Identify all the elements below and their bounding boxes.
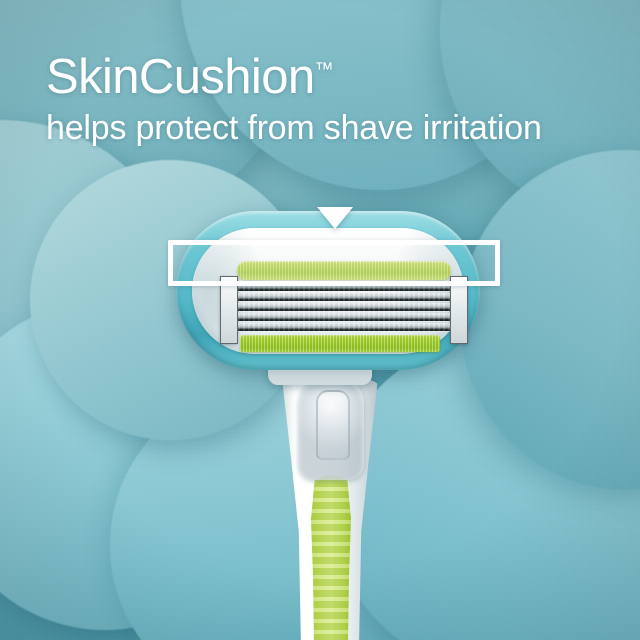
headline-block: SkinCushion™ helps protect from shave ir… [46,52,542,148]
trademark-symbol: ™ [315,60,334,81]
down-triangle-pointer-icon [317,207,353,229]
blade [228,293,456,301]
blade-stack [228,283,456,333]
blade [228,303,456,311]
hinge-detail [316,390,350,460]
razor-handle [232,358,428,640]
blade-end-cap-left [220,276,238,344]
blade [228,313,456,321]
highlight-rectangle [168,240,500,286]
razor-cartridge [176,211,480,370]
product-image-canvas: SkinCushion™ helps protect from shave ir… [0,0,640,640]
blade [228,323,456,331]
page-subtitle: helps protect from shave irritation [46,109,542,148]
lubricating-strip [240,335,440,352]
page-title: SkinCushion™ [46,52,542,103]
blade-end-cap-right [450,276,468,344]
headline-text: SkinCushion [46,50,315,104]
